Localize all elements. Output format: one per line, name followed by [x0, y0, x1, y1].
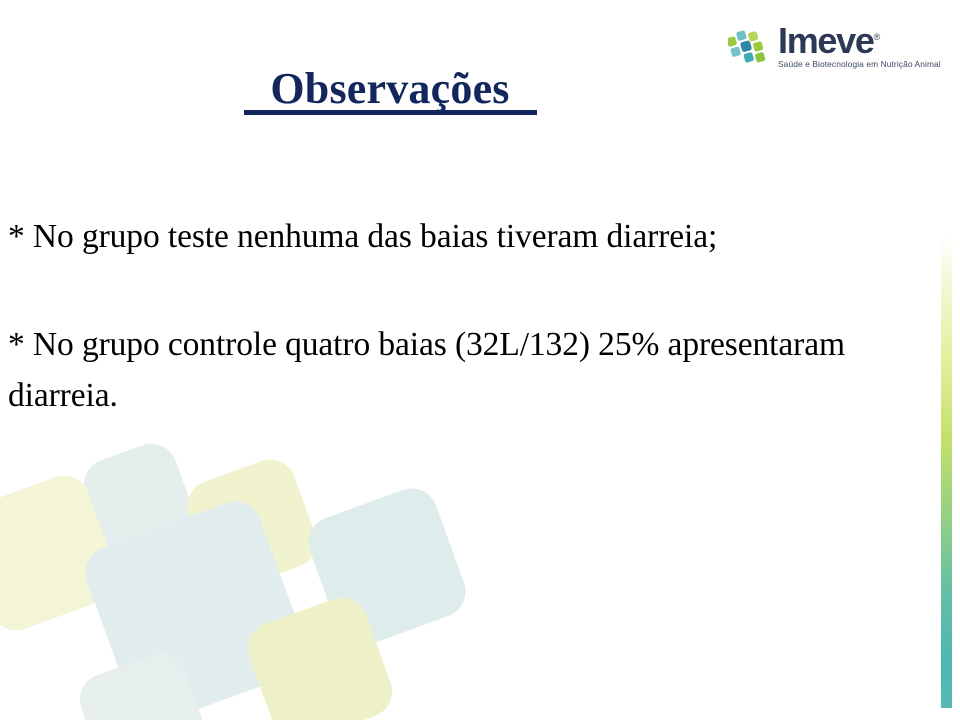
decorative-square-teal-top-small — [76, 436, 199, 559]
decorative-square-yellow-bottom — [241, 591, 400, 720]
decorative-square-teal-right-big — [301, 481, 473, 653]
presentation-slide: Imeve® Saúde e Biotecnologia em Nutrição… — [0, 0, 960, 720]
slide-title-underline — [244, 110, 537, 115]
bullet-paragraph-2: * No grupo controle quatro baias (32L/13… — [8, 319, 888, 421]
decorative-square-yellow-top-mid — [180, 452, 324, 596]
right-edge-gradient-bar — [941, 236, 952, 708]
decorative-square-yellow-left-big — [0, 468, 125, 637]
imeve-wordmark-label: Imeve — [778, 20, 874, 61]
imeve-logo-text: Imeve® Saúde e Biotecnologia em Nutrição… — [778, 24, 941, 70]
bullet-paragraph-1: * No grupo teste nenhuma das baias tiver… — [8, 211, 888, 262]
slide-body: * No grupo teste nenhuma das baias tiver… — [8, 211, 888, 421]
decorative-square-teal-bottom-edge — [73, 647, 214, 720]
decorative-square-teal-center-big — [78, 494, 314, 720]
registered-trademark-icon: ® — [874, 32, 881, 42]
imeve-wordmark: Imeve® — [778, 24, 941, 58]
